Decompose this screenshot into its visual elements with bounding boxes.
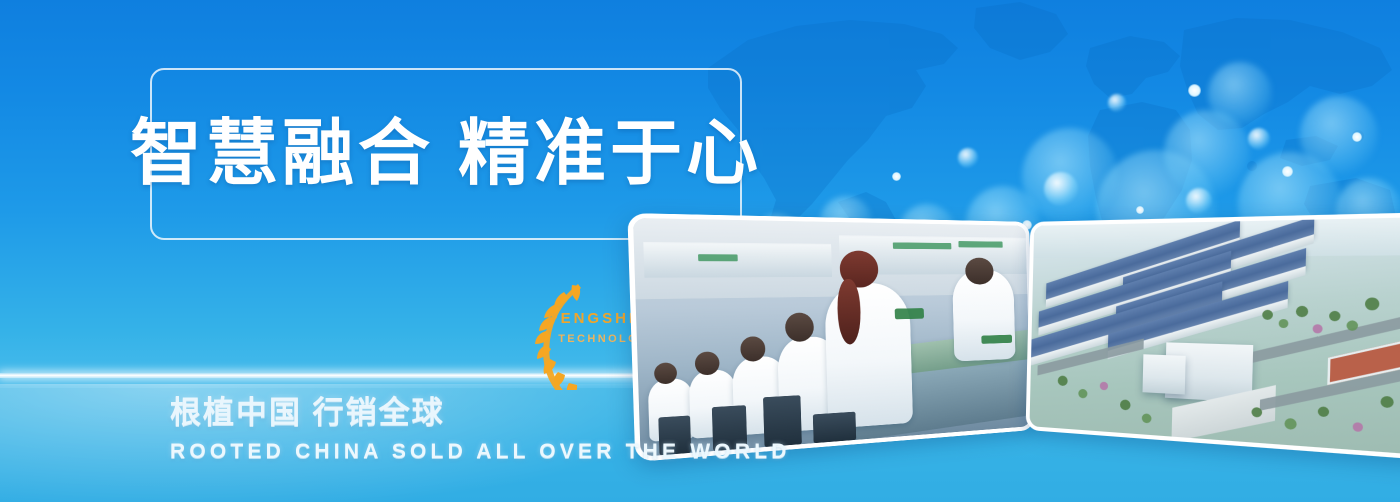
tagline-chinese: 根植中国 行销全球 [170,396,791,430]
page-title: 智慧融合 精准于心 [130,118,762,190]
photo-aerial-factory-campus [1026,212,1400,460]
promo-banner: 智慧融合 精准于心 [0,0,1400,502]
tagline-english: ROOTED CHINA SOLD ALL OVER THE WORLD [170,441,791,462]
tagline-block: 根植中国 行销全球 ROOTED CHINA SOLD ALL OVER THE… [170,396,791,462]
